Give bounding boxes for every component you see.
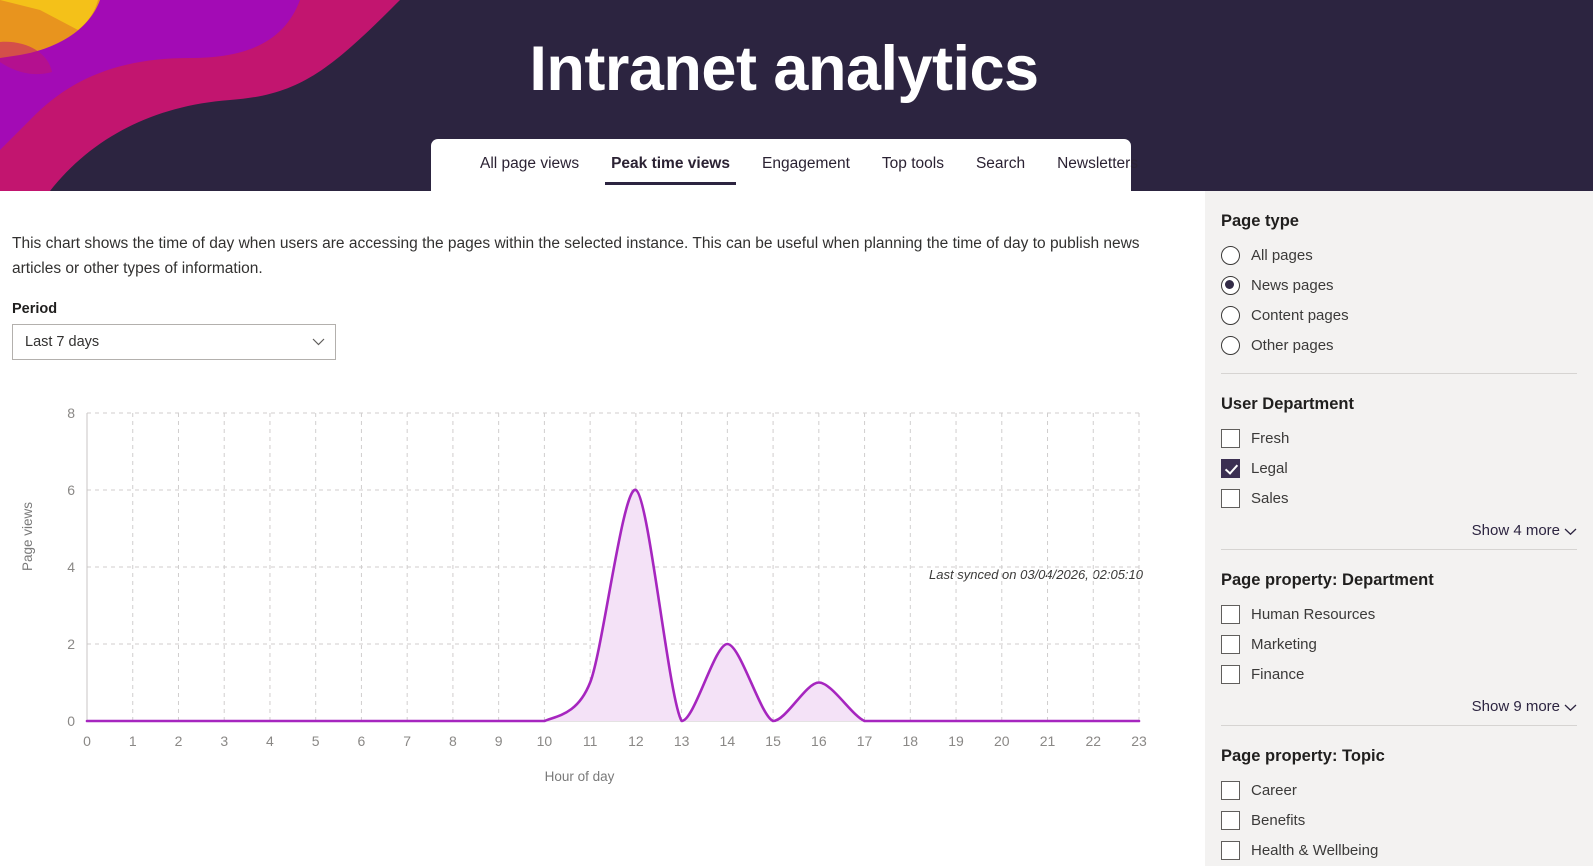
filters-sidebar: Page typeAll pagesNews pagesContent page… [1205, 191, 1593, 866]
show-more-link[interactable]: Show 9 more [1221, 692, 1577, 725]
chart-x-tick-label: 7 [403, 733, 411, 749]
checkbox-option-health-wellbeing[interactable]: Health & Wellbeing [1221, 838, 1577, 863]
chart-x-axis-label: Hour of day [12, 769, 1147, 784]
chart-x-tick-label: 1 [129, 733, 137, 749]
option-label: Content pages [1251, 307, 1349, 324]
chart-description: This chart shows the time of day when us… [12, 231, 1142, 281]
chart-x-tick-label: 5 [312, 733, 320, 749]
option-label: Career [1251, 782, 1297, 799]
chart-x-tick-label: 8 [449, 733, 457, 749]
radio-checked-icon[interactable] [1221, 276, 1240, 295]
filter-group-title: Page property: Department [1221, 571, 1577, 590]
filter-group-page-type: Page typeAll pagesNews pagesContent page… [1221, 191, 1577, 373]
option-label: Finance [1251, 666, 1304, 683]
chart-x-tick-label: 12 [628, 733, 644, 749]
checkbox-unchecked-icon[interactable] [1221, 489, 1240, 508]
radio-option-content-pages[interactable]: Content pages [1221, 303, 1577, 328]
tab-label: Engagement [762, 155, 850, 172]
page-header: Intranet analytics All page views Peak t… [0, 0, 1593, 191]
checkbox-option-career[interactable]: Career [1221, 778, 1577, 803]
tab-label: All page views [480, 155, 579, 172]
chart-x-tick-label: 9 [495, 733, 503, 749]
chart-x-tick-label: 13 [674, 733, 690, 749]
radio-option-all-pages[interactable]: All pages [1221, 243, 1577, 268]
chart-x-tick-label: 3 [220, 733, 228, 749]
option-label: Fresh [1251, 430, 1289, 447]
period-label: Period [12, 301, 57, 317]
checkbox-unchecked-icon[interactable] [1221, 635, 1240, 654]
chart-y-tick-label: 6 [67, 482, 75, 498]
filter-group-title: Page property: Topic [1221, 747, 1577, 766]
chart-x-tick-label: 10 [537, 733, 553, 749]
chevron-down-icon [1564, 524, 1577, 538]
show-more-link[interactable]: Show 4 more [1221, 516, 1577, 549]
chart-x-tick-label: 22 [1085, 733, 1101, 749]
tab-label: Newsletters [1057, 155, 1138, 172]
chart-x-tick-label: 11 [583, 733, 598, 749]
chart-x-tick-label: 17 [857, 733, 873, 749]
chart-x-tick-label: 23 [1131, 733, 1147, 749]
chart-area-fill [87, 490, 1139, 721]
checkbox-unchecked-icon[interactable] [1221, 665, 1240, 684]
chart-x-tick-label: 0 [83, 733, 91, 749]
radio-unchecked-icon[interactable] [1221, 336, 1240, 355]
show-more-label: Show 9 more [1472, 698, 1560, 715]
chart-x-tick-label: 14 [720, 733, 736, 749]
option-label: Sales [1251, 490, 1289, 507]
chart-y-tick-label: 0 [67, 713, 75, 729]
period-dropdown[interactable]: Last 7 days [12, 324, 336, 360]
chart-x-tick-label: 16 [811, 733, 827, 749]
filter-group-page-property-department: Page property: DepartmentHuman Resources… [1221, 550, 1577, 725]
checkbox-option-benefits[interactable]: Benefits [1221, 808, 1577, 833]
tab-label: Top tools [882, 155, 944, 172]
chevron-down-icon [312, 335, 325, 349]
tab-all-page-views[interactable]: All page views [464, 139, 595, 191]
tab-engagement[interactable]: Engagement [746, 139, 866, 191]
option-label: All pages [1251, 247, 1313, 264]
tab-top-tools[interactable]: Top tools [866, 139, 960, 191]
radio-option-news-pages[interactable]: News pages [1221, 273, 1577, 298]
checkbox-option-marketing[interactable]: Marketing [1221, 632, 1577, 657]
tab-bar: All page views Peak time views Engagemen… [431, 139, 1131, 191]
chart-x-tick-label: 15 [765, 733, 781, 749]
option-label: Human Resources [1251, 606, 1375, 623]
chart-y-tick-label: 2 [67, 636, 75, 652]
tab-newsletters[interactable]: Newsletters [1041, 139, 1154, 191]
filter-group-page-property-topic: Page property: TopicCareerBenefitsHealth… [1221, 726, 1577, 866]
tab-search[interactable]: Search [960, 139, 1041, 191]
filter-group-title: Page type [1221, 212, 1577, 231]
chart-x-tick-label: 4 [266, 733, 274, 749]
filter-group-title: User Department [1221, 395, 1577, 414]
radio-unchecked-icon[interactable] [1221, 306, 1240, 325]
checkbox-option-fresh[interactable]: Fresh [1221, 426, 1577, 451]
filter-group-user-department: User DepartmentFreshLegalSalesShow 4 mor… [1221, 374, 1577, 549]
checkbox-unchecked-icon[interactable] [1221, 811, 1240, 830]
chart-canvas: 0246801234567891011121314151617181920212… [12, 401, 1162, 766]
chevron-down-icon [1564, 700, 1577, 714]
peak-time-chart: Page views Hour of day 02468012345678910… [12, 401, 1162, 801]
chart-y-tick-label: 8 [67, 405, 75, 421]
checkbox-option-sales[interactable]: Sales [1221, 486, 1577, 511]
spacer [1221, 363, 1577, 373]
checkbox-option-finance[interactable]: Finance [1221, 662, 1577, 687]
chart-x-tick-label: 20 [994, 733, 1010, 749]
radio-option-other-pages[interactable]: Other pages [1221, 333, 1577, 358]
option-label: Marketing [1251, 636, 1317, 653]
checkbox-unchecked-icon[interactable] [1221, 781, 1240, 800]
checkbox-checked-icon[interactable] [1221, 459, 1240, 478]
option-label: Other pages [1251, 337, 1334, 354]
main-content: This chart shows the time of day when us… [0, 191, 1205, 866]
period-value: Last 7 days [25, 334, 99, 350]
checkbox-unchecked-icon[interactable] [1221, 841, 1240, 860]
checkbox-unchecked-icon[interactable] [1221, 605, 1240, 624]
checkbox-option-human-resources[interactable]: Human Resources [1221, 602, 1577, 627]
tab-peak-time-views[interactable]: Peak time views [595, 139, 746, 191]
chart-y-tick-label: 4 [67, 559, 75, 575]
checkbox-option-legal[interactable]: Legal [1221, 456, 1577, 481]
chart-x-tick-label: 21 [1040, 733, 1056, 749]
option-label: Legal [1251, 460, 1288, 477]
radio-unchecked-icon[interactable] [1221, 246, 1240, 265]
chart-x-tick-label: 2 [175, 733, 183, 749]
tab-label: Peak time views [611, 155, 730, 172]
checkbox-unchecked-icon[interactable] [1221, 429, 1240, 448]
tab-label: Search [976, 155, 1025, 172]
option-label: Benefits [1251, 812, 1305, 829]
option-label: Health & Wellbeing [1251, 842, 1378, 859]
chart-x-tick-label: 18 [903, 733, 919, 749]
analytics-page: Intranet analytics All page views Peak t… [0, 0, 1593, 866]
chart-x-tick-label: 19 [948, 733, 964, 749]
chart-x-tick-label: 6 [358, 733, 366, 749]
option-label: News pages [1251, 277, 1334, 294]
page-title: Intranet analytics [0, 36, 1568, 102]
show-more-label: Show 4 more [1472, 522, 1560, 539]
